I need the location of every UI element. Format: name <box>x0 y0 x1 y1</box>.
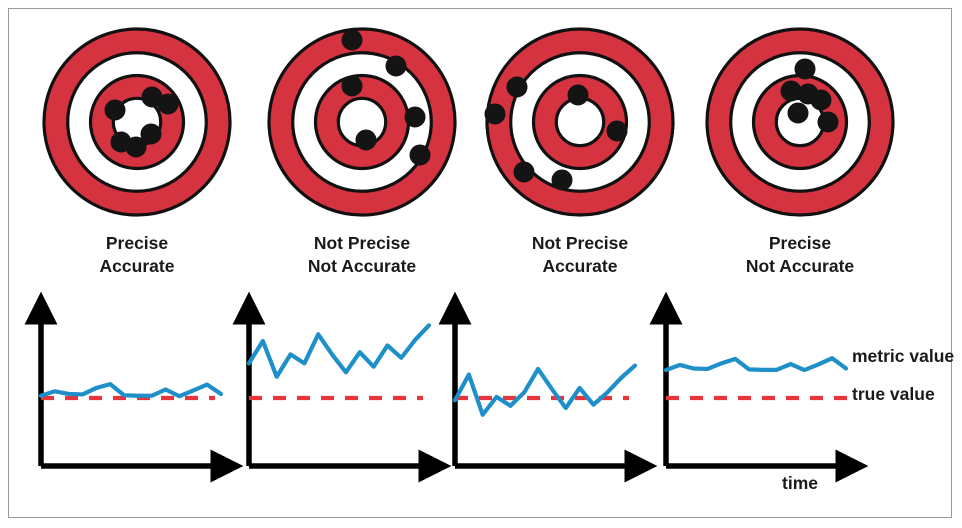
chart-precise-accurate <box>41 318 221 466</box>
target-notprecise-notaccurate: Not PreciseNot Accurate <box>269 29 455 276</box>
shot-marker <box>405 107 425 127</box>
legend-label-metric-value: metric value <box>852 346 954 366</box>
metric-value-line <box>249 325 429 376</box>
chart-legend: metric valuetrue value <box>852 346 954 404</box>
shot-marker <box>410 145 430 165</box>
shot-marker <box>795 59 815 79</box>
metric-value-line <box>41 384 221 396</box>
chart-notprecise-accurate <box>455 318 635 466</box>
target-caption-line1: Not Precise <box>314 233 411 253</box>
shot-marker <box>485 104 505 124</box>
chart-precise-notaccurate: time <box>666 318 847 493</box>
target-precise-notaccurate: PreciseNot Accurate <box>707 29 893 276</box>
target-caption-line1: Precise <box>769 233 832 253</box>
metric-value-line <box>455 366 635 415</box>
target-caption-line2: Accurate <box>100 256 175 276</box>
shot-marker <box>141 124 161 144</box>
metric-value-line <box>666 358 846 370</box>
target-caption-line2: Not Accurate <box>308 256 417 276</box>
shot-marker <box>568 85 588 105</box>
target-caption-line1: Not Precise <box>532 233 629 253</box>
shot-marker <box>552 170 572 190</box>
legend-label-true-value: true value <box>852 384 935 404</box>
shot-marker <box>788 103 808 123</box>
shot-marker <box>514 162 534 182</box>
x-axis-label: time <box>782 473 818 493</box>
target-ring-3 <box>556 98 603 145</box>
shot-marker <box>342 76 362 96</box>
target-notprecise-accurate: Not PreciseAccurate <box>485 29 673 276</box>
shot-marker <box>507 77 527 97</box>
precision-accuracy-figure: PreciseAccurateNot PreciseNot AccurateNo… <box>0 0 962 528</box>
target-precise-accurate: PreciseAccurate <box>44 29 230 276</box>
targets-row: PreciseAccurateNot PreciseNot AccurateNo… <box>44 29 893 276</box>
shot-marker <box>158 94 178 114</box>
figure-canvas: PreciseAccurateNot PreciseNot AccurateNo… <box>0 0 962 528</box>
charts-row: time <box>41 318 847 493</box>
shot-marker <box>386 56 406 76</box>
target-caption-line2: Not Accurate <box>746 256 855 276</box>
target-caption-line2: Accurate <box>543 256 618 276</box>
shot-marker <box>356 130 376 150</box>
chart-notprecise-notaccurate <box>249 318 429 466</box>
shot-marker <box>105 100 125 120</box>
shot-marker <box>607 121 627 141</box>
target-caption-line1: Precise <box>106 233 169 253</box>
shot-marker <box>811 90 831 110</box>
shot-marker <box>818 112 838 132</box>
shot-marker <box>342 30 362 50</box>
